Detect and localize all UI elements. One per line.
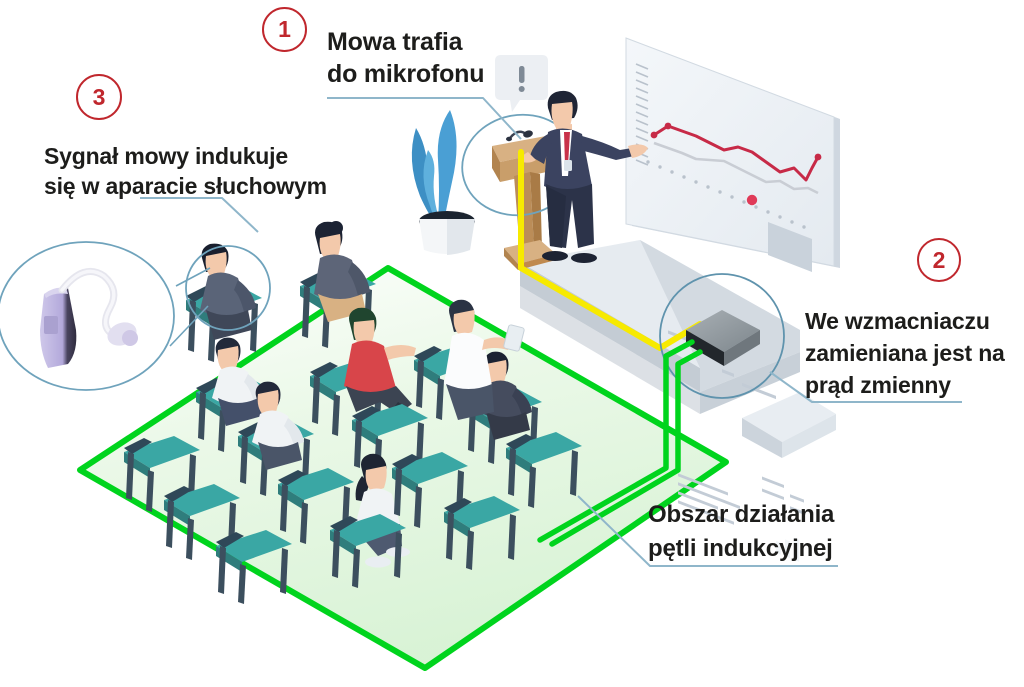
callout-3-line-1: Sygnał mowy indukuje <box>44 141 327 171</box>
marker-number-2: 2 <box>917 238 961 282</box>
leader-line-3 <box>140 198 258 232</box>
callout-2-line-3: prąd zmienny <box>805 369 1005 401</box>
callout-4-line-1: Obszar działania <box>648 498 834 532</box>
magnifier-circle <box>0 242 174 390</box>
callout-1-line-2: do mikrofonu <box>327 58 484 90</box>
callout-1-line-1: Mowa trafia <box>327 26 484 58</box>
callout-2-line-1: We wzmacniaczu <box>805 305 1005 337</box>
callout-1: Mowa trafia do mikrofonu <box>327 26 484 90</box>
marker-number-1: 1 <box>262 7 307 52</box>
callout-2-line-2: zamieniana jest na <box>805 337 1005 369</box>
callout-2: We wzmacniaczu zamieniana jest na prąd z… <box>805 305 1005 401</box>
chart-highlight-dot <box>747 195 757 205</box>
marker-number-3: 3 <box>76 74 122 120</box>
callout-3-line-2: się w aparacie słuchowym <box>44 171 327 201</box>
hearing-aid-magnifier <box>0 242 210 390</box>
exclamation-bubble <box>495 55 548 112</box>
callout-4-line-2: pętli indukcyjnej <box>648 532 834 566</box>
infographic-canvas: 1 Mowa trafia do mikrofonu 3 Sygnał mowy… <box>0 0 1024 687</box>
callout-3: Sygnał mowy indukuje się w aparacie słuc… <box>44 141 327 201</box>
callout-loop-area: Obszar działania pętli indukcyjnej <box>648 498 834 566</box>
leader-line-1 <box>327 98 521 139</box>
